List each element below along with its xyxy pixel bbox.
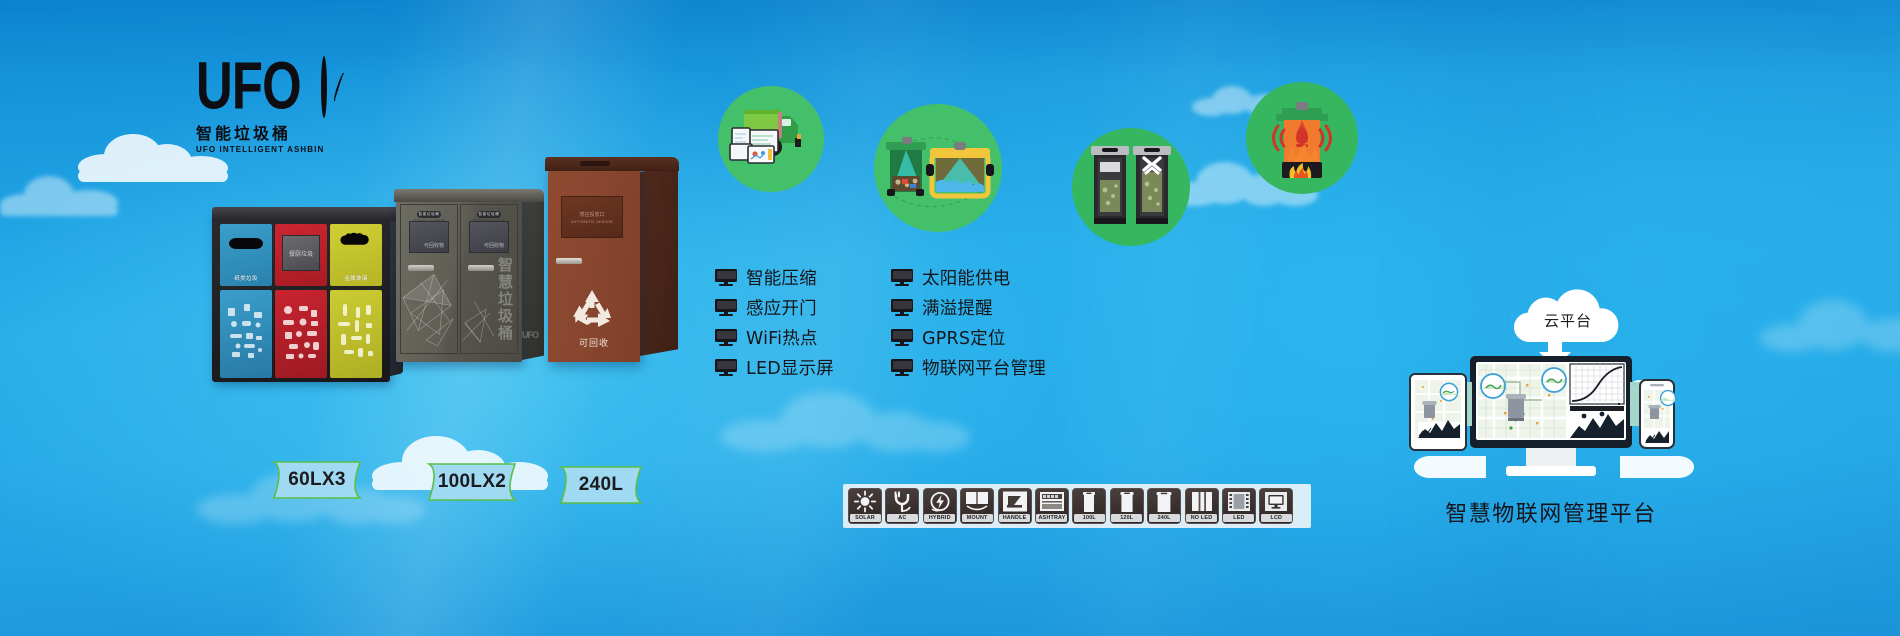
chip-label: NO LED: [1191, 514, 1213, 523]
capsule-text: 240L: [579, 474, 624, 496]
chip-no-led[interactable]: NO LED: [1185, 488, 1219, 524]
monitor-icon: [715, 269, 737, 285]
bin-lid: [545, 157, 679, 171]
window-subtext: AUTOMATIC SENSOR: [571, 220, 613, 224]
chip-label: 120L: [1120, 514, 1133, 523]
capsule-label-240l: 240L: [559, 465, 643, 505]
cloud-platform-text: 云平台: [1508, 310, 1628, 331]
feature-item: LED显示屏: [715, 352, 834, 382]
handle-icon: [556, 258, 582, 264]
bin-60lx3: 纸类垃圾 餐: [212, 212, 390, 382]
compartment-upper-panel: 纸类垃圾: [220, 224, 272, 286]
fire-alarm-icon: [1246, 82, 1358, 194]
fill-level-sensor-icon: [874, 104, 1002, 232]
kitchen-waste-illustration: [275, 290, 327, 378]
feature-circle-collection-truck: [718, 86, 824, 192]
feature-item: 满溢提醒: [891, 292, 1046, 322]
chip-label: SOLAR: [855, 514, 875, 523]
chip-handle[interactable]: HANDLE: [998, 488, 1032, 524]
monitor-icon: [715, 329, 737, 345]
chip-ac[interactable]: AC: [885, 488, 919, 524]
geometric-pattern: [401, 205, 457, 350]
monitor-icon: [715, 359, 737, 375]
hybrid-bolt-icon: [925, 490, 955, 513]
feature-label: 物联网平台管理: [922, 355, 1046, 380]
platform-title: 智慧物联网管理平台: [1376, 496, 1726, 528]
feature-item: GPRS定位: [891, 322, 1046, 352]
chip-solar[interactable]: SOLAR: [848, 488, 882, 524]
feature-column-left: 智能压缩 感应开门 WiFi热点 LED显示屏: [715, 262, 834, 382]
window-text-group: 感应投放口 AUTOMATIC SENSOR: [562, 197, 622, 237]
feature-label: WiFi热点: [746, 325, 818, 350]
logo-cn-name: 智能垃圾桶: [196, 125, 326, 143]
bin-door-left: 智能垃圾桶 感应开门 自动压缩 可回收物: [400, 204, 458, 354]
feature-label: 智能压缩: [746, 265, 817, 290]
monitor-icon: [715, 299, 737, 315]
chip-label: LCD: [1270, 514, 1282, 523]
sun-icon: [850, 490, 880, 513]
option-chip-strip: SOLAR AC HYBRID: [843, 484, 1311, 528]
capsule-label-100lx2: 100LX2: [427, 462, 517, 502]
chip-hybrid[interactable]: HYBRID: [923, 488, 957, 524]
bin-120l-icon: [1112, 490, 1142, 513]
ufo-ring-icon: [321, 56, 327, 118]
monitor-icon: [891, 329, 913, 345]
bin-body: 感应投放口 AUTOMATIC SENSOR 可回收: [548, 166, 640, 362]
lid-slot: [580, 161, 610, 166]
capsule-label-60lx3: 60LX3: [272, 460, 362, 500]
power-plug-icon: [887, 490, 917, 513]
bin-100l-icon: [1074, 490, 1104, 513]
recycle-label: 可回收: [548, 336, 640, 349]
chip-label: MOUNT: [967, 514, 988, 523]
feature-label: LED显示屏: [746, 355, 834, 380]
bin-240l: 感应投放口 AUTOMATIC SENSOR 可回收: [548, 166, 640, 362]
geometric-pattern: [461, 205, 517, 350]
capsule-text: 60LX3: [288, 469, 345, 491]
monitor-icon: [891, 359, 913, 375]
feature-label: GPRS定位: [922, 325, 1006, 350]
feature-item: 智能压缩: [715, 262, 834, 292]
feature-column-right: 太阳能供电 满溢提醒 GPRS定位 物联网平台管理: [891, 262, 1046, 382]
compartment-label: 餐厨垃圾: [283, 236, 319, 270]
chip-led[interactable]: LED: [1222, 488, 1256, 524]
chip-label: AC: [898, 514, 906, 523]
recycle-icon: [570, 288, 614, 328]
platform-devices-group: [1396, 336, 1706, 488]
auto-compaction-icon: [1072, 128, 1190, 246]
chip-label: 100L: [1083, 514, 1096, 523]
bin-side-panel: [640, 165, 678, 356]
feature-circle-fire-alarm: [1246, 82, 1358, 194]
feature-item: 物联网平台管理: [891, 352, 1046, 382]
capsule-text: 100LX2: [438, 471, 506, 493]
oval-slot-icon: [229, 238, 263, 249]
logo-wordmark: UFO: [196, 54, 301, 121]
monitor-icon: [891, 269, 913, 285]
chip-ashtray[interactable]: ASHTRAY: [1035, 488, 1069, 524]
brand-logo: UFO 智能垃圾桶 UFO INTELLIGENT ASHBIN: [196, 52, 326, 154]
display-window: 餐厨垃圾: [282, 235, 320, 271]
cloud-decoration: [1760, 300, 1900, 352]
bin-lid: [394, 189, 544, 202]
cloud-decoration: [720, 392, 970, 452]
bin-lid: [212, 207, 403, 221]
handle-icon: [1000, 490, 1030, 513]
bin-240l-icon: [1149, 490, 1179, 513]
monitor-icon: [891, 299, 913, 315]
bin-door-right: 智能垃圾桶 感应开门 自动压缩 可回收物 智慧垃圾桶: [460, 204, 518, 354]
panel-plain-icon: [1187, 490, 1217, 513]
compartment-label: 纸类垃圾: [220, 274, 272, 282]
compartment-label: 金属玻璃: [330, 274, 382, 282]
chip-label: 240L: [1158, 514, 1171, 523]
feature-label: 感应开门: [746, 295, 817, 320]
compartment-lower-panel: [275, 290, 327, 378]
window-title: 感应投放口: [579, 211, 604, 218]
paper-waste-illustration: [220, 290, 272, 378]
feature-label: 太阳能供电: [922, 265, 1011, 290]
bin-100lx2: 智能垃圾桶 感应开门 自动压缩 可回收物 智能垃圾桶 感应开门 自动压缩 可回收…: [396, 196, 522, 362]
feature-item: WiFi热点: [715, 322, 834, 352]
feature-item: 太阳能供电: [891, 262, 1046, 292]
logo-en-name: UFO INTELLIGENT ASHBIN: [196, 145, 326, 154]
chip-label: HYBRID: [929, 514, 951, 523]
compartment-upper-panel: 餐厨垃圾: [275, 224, 327, 286]
compartment-upper-panel: 金属玻璃: [330, 224, 382, 286]
ashtray-icon: [1037, 490, 1067, 513]
iot-dashboard-illustration: [1396, 336, 1706, 488]
metal-glass-waste-illustration: [330, 290, 382, 378]
lcd-screen-icon: [1261, 490, 1291, 513]
chip-240l[interactable]: 240L: [1147, 488, 1181, 524]
led-panel-icon: [1224, 490, 1254, 513]
chip-label: HANDLE: [1003, 514, 1027, 523]
bin-brand-mark: UFO: [522, 330, 538, 340]
cloud-decoration: [0, 176, 118, 216]
banner-stage: UFO 智能垃圾桶 UFO INTELLIGENT ASHBIN 纸类垃圾: [0, 0, 1900, 636]
display-window: 感应投放口 AUTOMATIC SENSOR: [561, 196, 623, 238]
feature-label: 满溢提醒: [922, 295, 993, 320]
chip-mount[interactable]: MOUNT: [960, 488, 994, 524]
cloud-slot-icon: [330, 232, 382, 256]
feature-circle-compaction: [1072, 128, 1190, 246]
wall-mount-icon: [962, 490, 992, 513]
chip-100l[interactable]: 100L: [1072, 488, 1106, 524]
feature-circle-fill-level: [874, 104, 1002, 232]
chip-120l[interactable]: 120L: [1110, 488, 1144, 524]
logo-wordmark-row: UFO: [196, 52, 326, 122]
compartment-lower-panel: [220, 290, 272, 378]
chip-label: ASHTRAY: [1038, 514, 1065, 523]
collection-truck-fleet-icon: [718, 86, 824, 192]
chip-label: LED: [1233, 514, 1244, 523]
feature-item: 感应开门: [715, 292, 834, 322]
chip-lcd[interactable]: LCD: [1259, 488, 1293, 524]
compartment-lower-panel: [330, 290, 382, 378]
